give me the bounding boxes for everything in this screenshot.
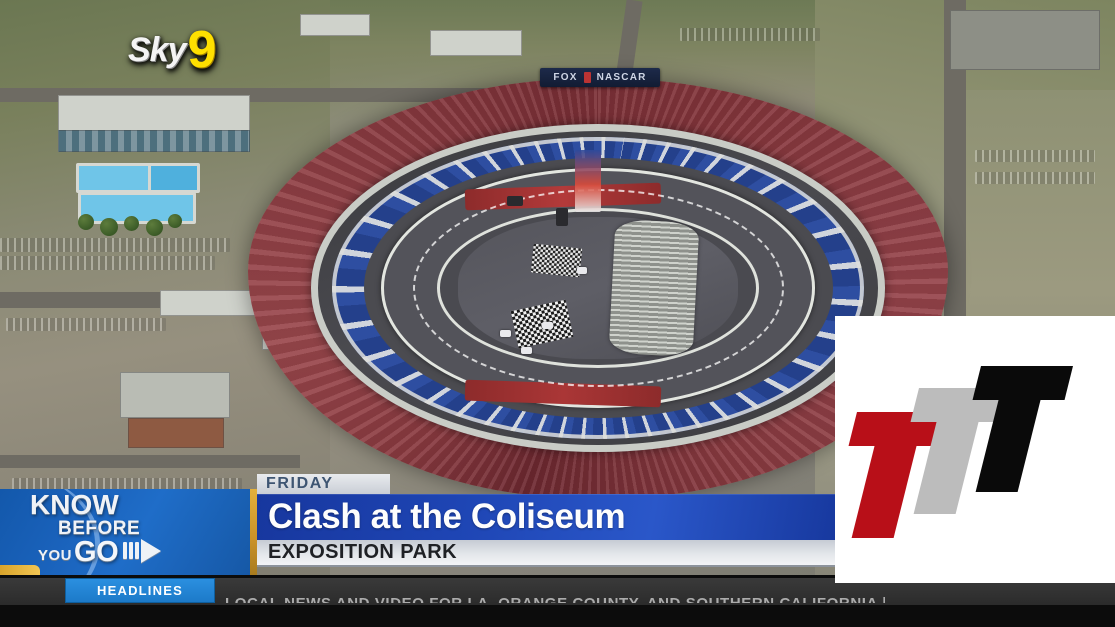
broadcast-frame: FOX NASCAR Sky 9 KNOW BEFORE YOU GO	[0, 0, 1115, 627]
parking-lot-left-upper	[0, 238, 230, 252]
tree	[124, 216, 139, 231]
parking-lot-topright	[680, 28, 820, 41]
station-name-label: Sky	[128, 31, 186, 70]
signage-divider-icon	[584, 72, 591, 83]
race-car	[542, 322, 553, 329]
brand-line-yougo: YOU GO	[38, 539, 250, 566]
parking-lot-right-2	[975, 172, 1095, 184]
building-swim-stadium-facade	[58, 130, 250, 152]
infield-truck	[507, 196, 523, 206]
know-before-you-go-panel: KNOW BEFORE YOU GO	[0, 489, 250, 575]
infield-truck	[556, 208, 568, 226]
tree	[78, 214, 94, 230]
station-number-label: 9	[188, 28, 217, 73]
building-left-shed	[128, 418, 224, 448]
parking-lot-left-mid	[0, 256, 215, 270]
speed-line	[135, 542, 139, 559]
brand-word-go: GO	[74, 539, 118, 565]
race-car	[577, 267, 587, 274]
brand-line-know: KNOW	[30, 492, 250, 519]
t-crossbar	[973, 366, 1073, 400]
parking-lot-left-lower	[6, 318, 166, 331]
day-label: FRIDAY	[266, 475, 334, 493]
gold-separator-bar	[250, 489, 257, 575]
ticker-crawl-text: LOCAL NEWS AND VIDEO FOR LA, ORANGE COUN…	[225, 595, 885, 603]
headlines-badge: HEADLINES	[65, 578, 215, 603]
t-stem	[852, 446, 917, 538]
lower-third-graphic: KNOW BEFORE YOU GO FRIDAY Clash a	[0, 489, 838, 575]
tree	[168, 214, 182, 228]
speed-line	[123, 542, 127, 559]
ttt-logo-overlay	[835, 316, 1115, 583]
infield-bleachers	[609, 219, 700, 358]
fox-label: FOX	[553, 72, 577, 83]
race-car	[500, 330, 511, 337]
race-car	[521, 347, 532, 354]
headline-bar: Clash at the Coliseum	[257, 494, 838, 540]
building-top-center-2	[300, 14, 370, 36]
building-swim-stadium	[58, 95, 250, 135]
station-logo-sky9: Sky 9	[128, 28, 216, 73]
tree	[100, 218, 118, 236]
panel-gold-corner	[0, 565, 40, 575]
pool-dive	[148, 163, 200, 193]
speed-arrow-icon	[123, 539, 161, 563]
headlines-label: HEADLINES	[97, 583, 183, 598]
brand-word-you: YOU	[38, 547, 72, 566]
stadium-rim-banner	[575, 150, 601, 212]
location-text: EXPOSITION PARK	[268, 541, 457, 564]
nascar-label: NASCAR	[597, 72, 647, 83]
building-left-lower	[120, 372, 230, 418]
parking-lot-right	[975, 150, 1095, 162]
location-bar: EXPOSITION PARK	[257, 540, 838, 567]
fox-nascar-signage: FOX NASCAR	[540, 68, 660, 87]
brand-text-stack: KNOW BEFORE YOU GO	[30, 492, 250, 566]
building-top-right	[950, 10, 1100, 70]
arrow-head-icon	[141, 539, 161, 563]
building-top-center	[430, 30, 522, 56]
infield-stage	[530, 244, 582, 278]
ticker-crawl-area: LOCAL NEWS AND VIDEO FOR LA, ORANGE COUN…	[225, 578, 885, 603]
speed-line	[129, 542, 133, 559]
day-of-week-strip: FRIDAY	[257, 474, 390, 494]
headline-text: Clash at the Coliseum	[268, 497, 625, 537]
ttt-letterforms	[857, 362, 1097, 542]
tree	[146, 219, 163, 236]
